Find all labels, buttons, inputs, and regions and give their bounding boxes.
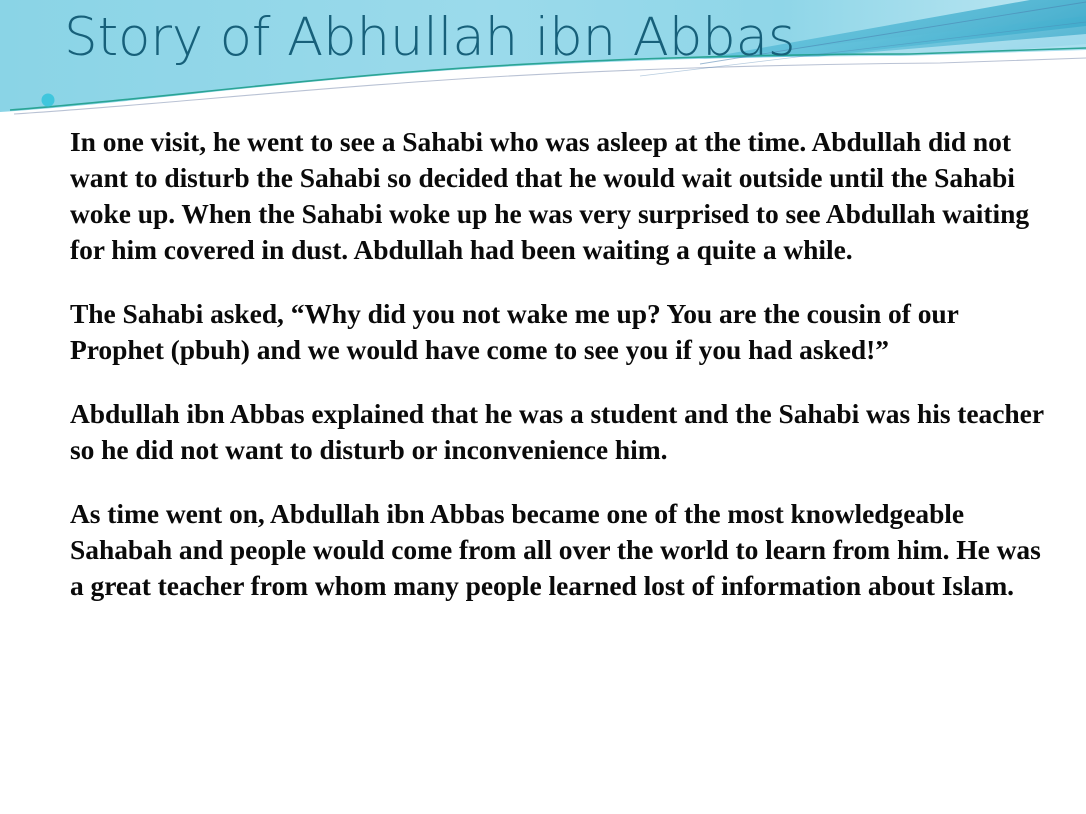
- body-paragraph: As time went on, Abdullah ibn Abbas beca…: [70, 496, 1056, 604]
- body-paragraph: In one visit, he went to see a Sahabi wh…: [70, 124, 1056, 268]
- body-paragraph: Abdullah ibn Abbas explained that he was…: [70, 396, 1056, 468]
- presentation-slide: Story of Abhullah ibn Abbas In one visit…: [0, 0, 1086, 814]
- body-paragraph: The Sahabi asked, “Why did you not wake …: [70, 296, 1056, 368]
- slide-title: Story of Abhullah ibn Abbas: [64, 5, 1024, 71]
- slide-body: In one visit, he went to see a Sahabi wh…: [70, 124, 1056, 604]
- banner-dot-icon: [42, 94, 55, 107]
